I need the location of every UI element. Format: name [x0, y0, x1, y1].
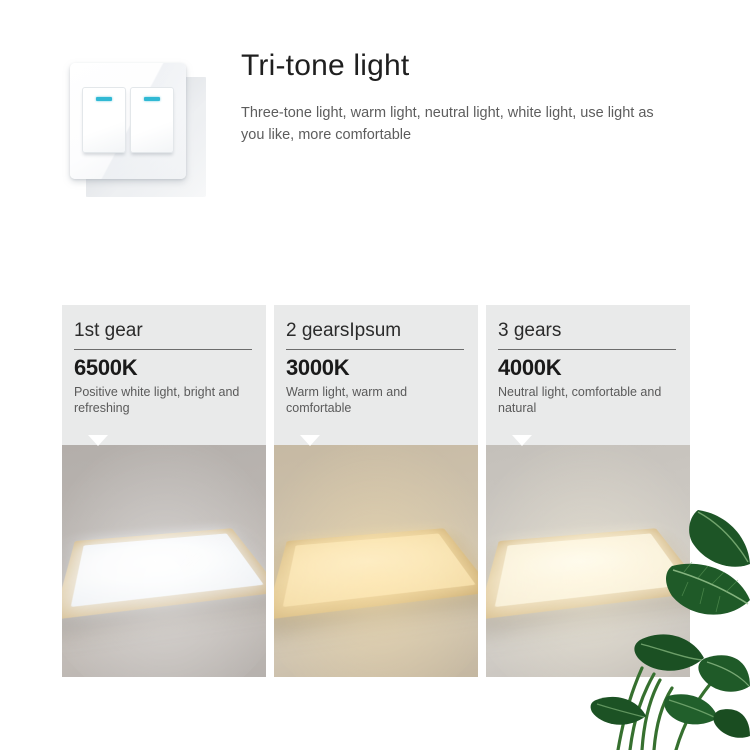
lamp-light-panel: [283, 533, 476, 607]
caption-divider: [286, 349, 464, 350]
gear-title: 1st gear: [74, 319, 254, 343]
gear-description: Neutral light, comfortable and natural: [498, 384, 678, 416]
caption-notch-icon: [300, 435, 320, 446]
header-section: Tri-tone light Three-tone light, warm li…: [0, 0, 750, 250]
kelvin-value: 3000K: [286, 355, 466, 381]
indicator-light-icon: [96, 97, 112, 101]
gear-panel: 3 gears 4000K Neutral light, comfortable…: [486, 305, 690, 677]
switch-faceplate: [70, 63, 186, 179]
lamp-photo: [274, 445, 478, 677]
gear-panel: 1st gear 6500K Positive white light, bri…: [62, 305, 266, 677]
lamp-light-panel: [495, 533, 688, 607]
caption-divider: [74, 349, 252, 350]
header-text-block: Tri-tone light Three-tone light, warm li…: [241, 48, 711, 146]
gear-description: Positive white light, bright and refresh…: [74, 384, 254, 416]
caption-notch-icon: [512, 435, 532, 446]
caption-divider: [498, 349, 676, 350]
kelvin-value: 4000K: [498, 355, 678, 381]
gear-title: 3 gears: [498, 319, 678, 343]
page-subtitle: Three-tone light, warm light, neutral li…: [241, 102, 671, 146]
gear-panel-group: 1st gear 6500K Positive white light, bri…: [62, 305, 690, 677]
gear-description: Warm light, warm and comfortable: [286, 384, 466, 416]
indicator-light-icon: [144, 97, 160, 101]
kelvin-value: 6500K: [74, 355, 254, 381]
gear-caption: 3 gears 4000K Neutral light, comfortable…: [486, 305, 690, 445]
lamp-photo: [62, 445, 266, 677]
caption-notch-icon: [88, 435, 108, 446]
plant-stems: [618, 668, 712, 750]
switch-rocker-right[interactable]: [130, 87, 174, 153]
lamp-photo: [486, 445, 690, 677]
gear-title: 2 gearsIpsum: [286, 319, 466, 343]
wall-switch-illustration: [60, 55, 220, 205]
lamp-light-panel: [71, 533, 264, 607]
page-title: Tri-tone light: [241, 48, 711, 84]
gear-caption: 2 gearsIpsum 3000K Warm light, warm and …: [274, 305, 478, 445]
gear-panel: 2 gearsIpsum 3000K Warm light, warm and …: [274, 305, 478, 677]
gear-caption: 1st gear 6500K Positive white light, bri…: [62, 305, 266, 445]
switch-rocker-left[interactable]: [82, 87, 126, 153]
